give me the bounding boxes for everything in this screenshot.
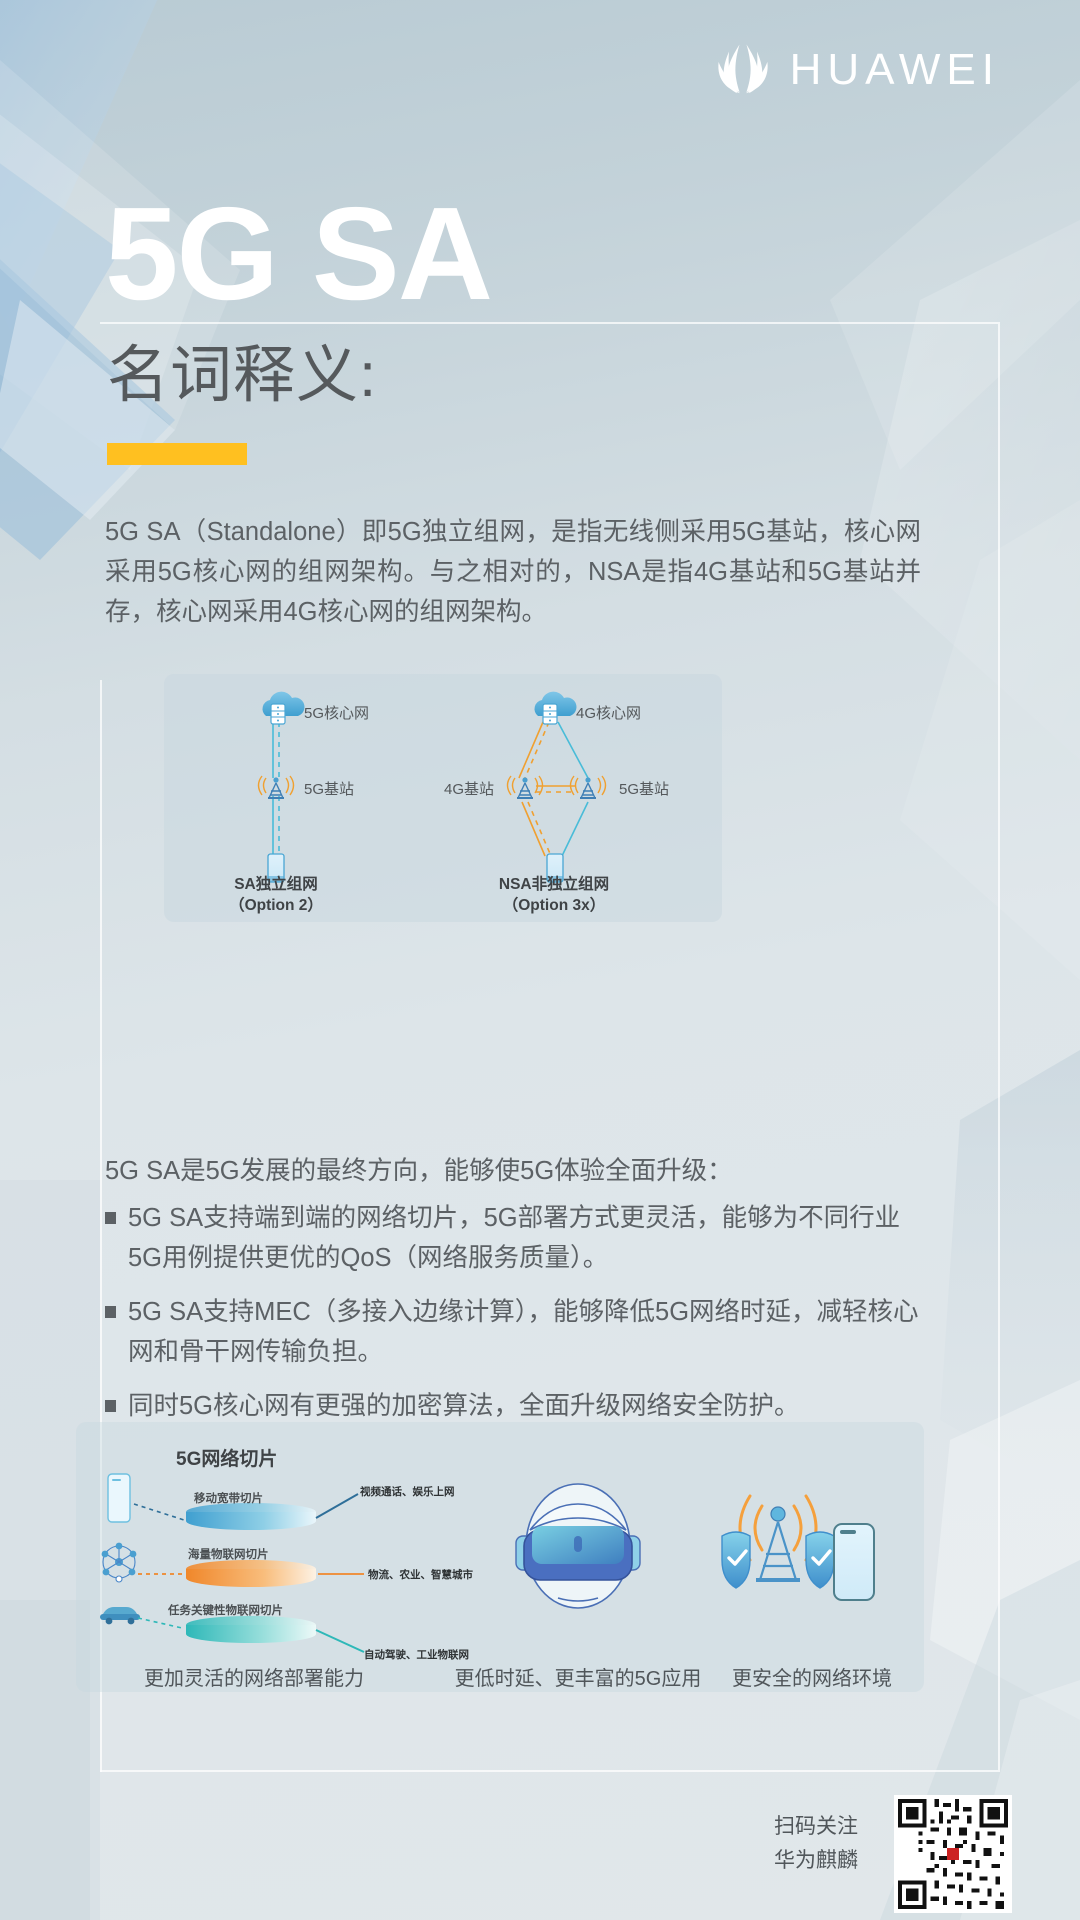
nsa-base-left-label: 4G基站 <box>444 778 494 799</box>
benefit-text: 同时5G核心网有更强的加密算法，全面升级网络安全防护。 <box>128 1386 925 1426</box>
benefit-text: 5G SA支持MEC（多接入边缘计算），能够降低5G网络时延，减轻核心网和骨干网… <box>128 1292 925 1372</box>
slice-usecase-2: 自动驾驶、工业物联网 <box>364 1647 469 1662</box>
qr-code[interactable] <box>894 1795 1012 1913</box>
scan-prompt: 扫码关注 华为麒麟 <box>774 1810 858 1878</box>
feature-caption-slicing: 更加灵活的网络部署能力 <box>124 1662 384 1691</box>
bullet-square-icon <box>105 1306 116 1318</box>
list-item: 同时5G核心网有更强的加密算法，全面升级网络安全防护。 <box>105 1386 925 1426</box>
poster-root: HUAWEI 5G SA 名词释义: 5G SA（Standalone）即5G独… <box>0 0 1080 1920</box>
nsa-caption-title: NSA非独立组网 <box>464 874 644 895</box>
feature-card: 5G网络切片 <box>76 1422 924 1692</box>
slice-name-2: 任务关键性物联网切片 <box>168 1602 283 1618</box>
feature-caption-latency: 更低时延、更丰富的5G应用 <box>448 1662 708 1691</box>
bullet-square-icon <box>105 1212 116 1224</box>
bullet-square-icon <box>105 1400 116 1412</box>
nsa-caption: NSA非独立组网 （Option 3x） <box>464 874 644 916</box>
benefits-list: 5G SA支持端到端的网络切片，5G部署方式更灵活，能够为不同行业5G用例提供更… <box>105 1198 925 1440</box>
scan-prompt-line1: 扫码关注 <box>774 1810 858 1844</box>
nsa-core-label: 4G核心网 <box>576 702 641 723</box>
benefits-lead: 5G SA是5G发展的最终方向，能够使5G体验全面升级： <box>105 1152 733 1190</box>
huawei-flower-logo-icon <box>714 42 772 98</box>
sa-core-label: 5G核心网 <box>304 702 369 723</box>
feature-caption-security: 更安全的网络环境 <box>712 1662 912 1691</box>
list-item: 5G SA支持端到端的网络切片，5G部署方式更灵活，能够为不同行业5G用例提供更… <box>105 1198 925 1278</box>
accent-bar <box>107 443 247 465</box>
qr-code-icon <box>894 1795 1012 1913</box>
intro-paragraph: 5G SA（Standalone）即5G独立组网，是指无线侧采用5G基站，核心网… <box>105 512 921 632</box>
sa-caption-option: （Option 2） <box>196 895 356 916</box>
sa-base-label: 5G基站 <box>304 778 354 799</box>
nsa-base-right-label: 5G基站 <box>619 778 669 799</box>
nsa-caption-option: （Option 3x） <box>464 895 644 916</box>
architecture-diagram-card: 5G核心网 5G基站 4G核心网 4G基站 5G基站 SA独立组网 （Optio… <box>164 674 722 922</box>
scan-prompt-line2: 华为麒麟 <box>774 1844 858 1878</box>
slice-name-0: 移动宽带切片 <box>194 1490 263 1506</box>
list-item: 5G SA支持MEC（多接入边缘计算），能够降低5G网络时延，减轻核心网和骨干网… <box>105 1292 925 1372</box>
page-title: 5G SA <box>105 188 491 320</box>
page-subtitle: 名词释义: <box>107 342 377 410</box>
slice-name-1: 海量物联网切片 <box>188 1546 269 1562</box>
benefit-text: 5G SA支持端到端的网络切片，5G部署方式更灵活，能够为不同行业5G用例提供更… <box>128 1198 925 1278</box>
huawei-logo: HUAWEI <box>714 42 1000 98</box>
slice-usecase-0: 视频通话、娱乐上网 <box>360 1484 455 1499</box>
sa-caption: SA独立组网 （Option 2） <box>196 874 356 916</box>
sa-caption-title: SA独立组网 <box>196 874 356 895</box>
slice-usecase-1: 物流、农业、智慧城市 <box>368 1567 473 1582</box>
huawei-wordmark: HUAWEI <box>790 48 1000 92</box>
